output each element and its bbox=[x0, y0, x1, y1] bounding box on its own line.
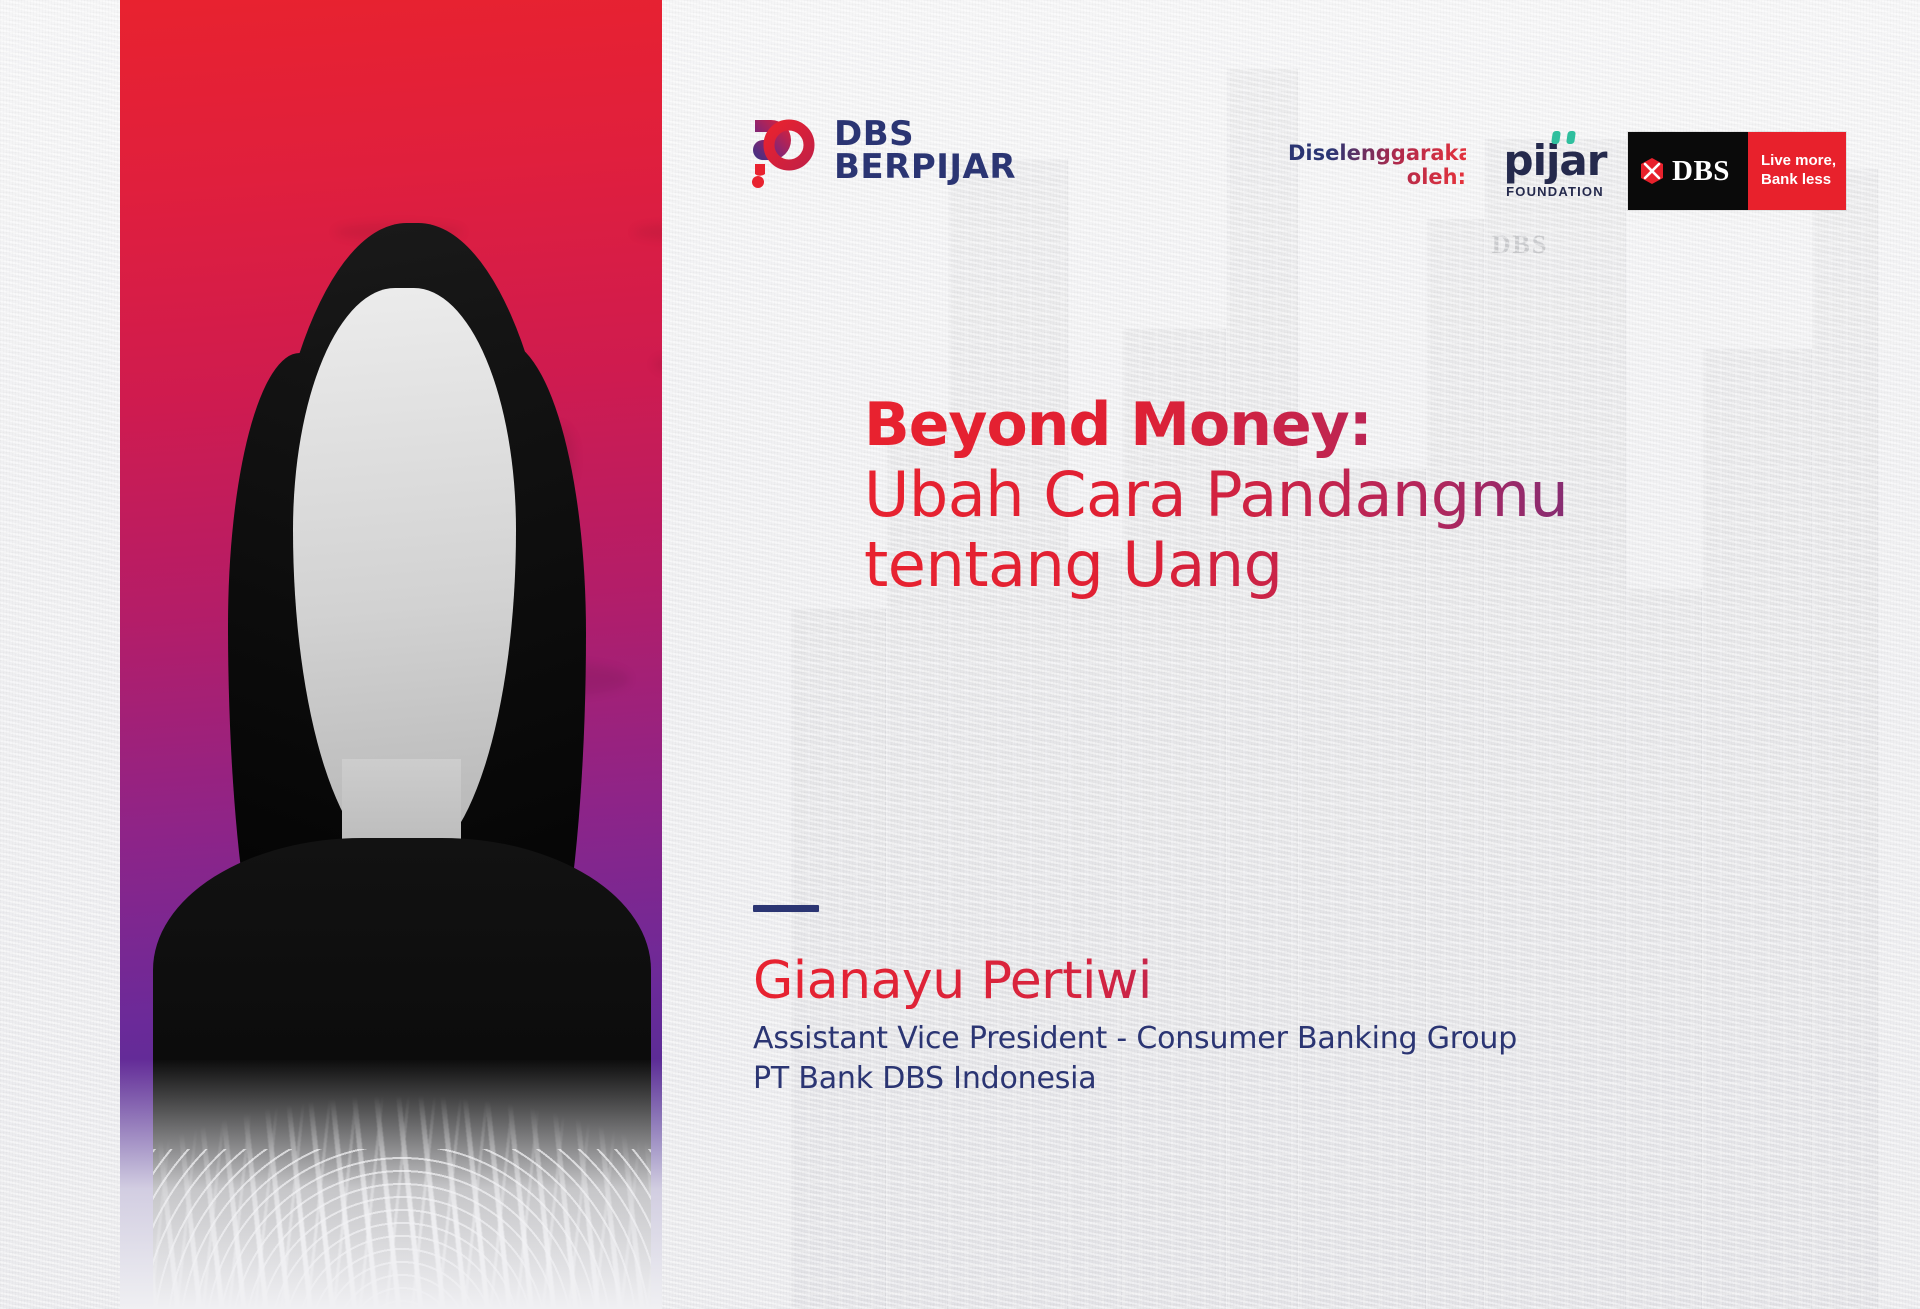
dbs-berpijar-logo[interactable]: DBS BERPIJAR bbox=[742, 112, 1016, 190]
building-dbs-sign: DBS bbox=[1460, 228, 1580, 262]
dbs-tagline: Live more, Bank less bbox=[1748, 132, 1846, 210]
headline-block: Beyond Money: Ubah Cara Pandangmu tentan… bbox=[864, 392, 1864, 600]
speaker-photo-panel bbox=[120, 0, 662, 1309]
dbs-logo-black-panel: DBS bbox=[1628, 132, 1748, 210]
panel-bottom-fade bbox=[120, 1059, 662, 1309]
pijar-dots-icon bbox=[1552, 131, 1575, 144]
pijar-wordmark: pijar bbox=[1490, 140, 1620, 182]
poster-canvas: DBS bbox=[0, 0, 1920, 1309]
speaker-name: Gianayu Pertiwi bbox=[753, 953, 1753, 1009]
dbs-hexagon-icon bbox=[1639, 157, 1665, 185]
speaker-divider-rule bbox=[753, 905, 819, 912]
pijar-foundation-logo[interactable]: pijar FOUNDATION bbox=[1490, 140, 1620, 198]
speaker-block: Gianayu Pertiwi Assistant Vice President… bbox=[753, 905, 1753, 1099]
organized-by-label: Diselenggarakan oleh: bbox=[1288, 142, 1466, 190]
dbs-berpijar-wordmark: DBS BERPIJAR bbox=[834, 118, 1016, 185]
headline-line-3: tentang Uang bbox=[864, 530, 1864, 600]
headline-line-1: Beyond Money: bbox=[864, 392, 1864, 460]
speaker-role: Assistant Vice President - Consumer Bank… bbox=[753, 1019, 1753, 1099]
headline-line-2: Ubah Cara Pandangmu bbox=[864, 460, 1864, 530]
dbs-wordmark: DBS bbox=[1672, 157, 1730, 186]
dbs-berpijar-mark-icon bbox=[742, 112, 816, 190]
pijar-subtitle: FOUNDATION bbox=[1490, 185, 1620, 198]
dbs-bank-logo[interactable]: DBS Live more, Bank less bbox=[1628, 132, 1846, 210]
